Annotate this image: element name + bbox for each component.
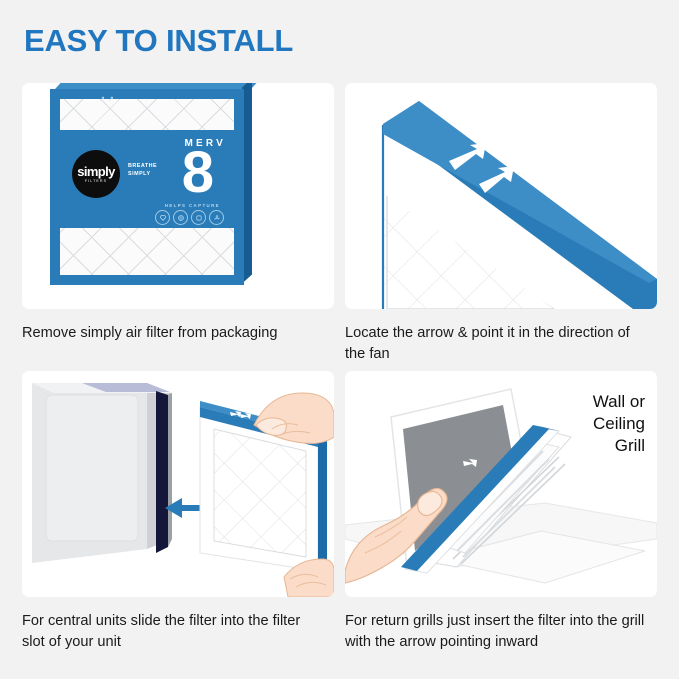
capture-icon-row: [155, 210, 224, 225]
merv-rating-value: 8: [182, 144, 214, 202]
infographic-page: EASY TO INSTALL ↗↗ simply FILTERS: [0, 0, 679, 679]
logo-subtext: FILTERS: [85, 179, 107, 183]
pollen-icon: [173, 210, 188, 225]
step-4: Wall or Ceiling Grill For return grills …: [345, 371, 657, 653]
package-top-arrow-marks: ↗↗: [99, 95, 117, 103]
step-3-image-card: [22, 371, 334, 597]
filter-package-illustration: ↗↗ simply FILTERS BREATHE SIMPLY MERV 8 …: [50, 89, 250, 289]
step-2: Locate the arrow & point it in the direc…: [345, 83, 657, 365]
grill-label-line-1: Wall or: [593, 391, 645, 413]
step-3: For central units slide the filter into …: [22, 371, 334, 653]
ceiling-grill-illustration: Wall or Ceiling Grill: [345, 371, 657, 597]
dust-icon: [155, 210, 170, 225]
step-1-caption: Remove simply air filter from packaging: [22, 323, 322, 344]
simply-filters-logo: simply FILTERS: [72, 150, 120, 198]
step-4-image-card: Wall or Ceiling Grill: [345, 371, 657, 597]
package-front-face: ↗↗ simply FILTERS BREATHE SIMPLY MERV 8 …: [50, 89, 244, 285]
logo-wordmark: simply: [77, 165, 115, 178]
wall-or-ceiling-grill-label: Wall or Ceiling Grill: [593, 391, 645, 457]
step-1: ↗↗ simply FILTERS BREATHE SIMPLY MERV 8 …: [22, 83, 334, 344]
grill-label-line-3: Grill: [593, 435, 645, 457]
package-label: simply FILTERS BREATHE SIMPLY MERV 8 HEL…: [60, 130, 240, 228]
filter-edge-arrow-svg: [345, 83, 657, 309]
step-3-caption: For central units slide the filter into …: [22, 611, 322, 653]
package-tagline: BREATHE SIMPLY: [128, 163, 157, 178]
helps-capture-text: HELPS CAPTURE: [165, 203, 220, 208]
page-title: EASY TO INSTALL: [24, 22, 293, 60]
lint-icon: [191, 210, 206, 225]
tagline-line-2: SIMPLY: [128, 171, 157, 179]
step-2-image-card: [345, 83, 657, 309]
slide-filter-svg: [22, 371, 334, 597]
step-4-caption: For return grills just insert the filter…: [345, 611, 645, 653]
hvac-unit-housing: [32, 383, 172, 563]
mold-icon: [209, 210, 224, 225]
step-1-image-card: ↗↗ simply FILTERS BREATHE SIMPLY MERV 8 …: [22, 83, 334, 309]
slide-into-unit-illustration: [22, 371, 334, 597]
step-2-caption: Locate the arrow & point it in the direc…: [345, 323, 645, 365]
tagline-line-1: BREATHE: [128, 163, 157, 171]
airflow-arrow-illustration: [345, 83, 657, 309]
grill-label-line-2: Ceiling: [593, 413, 645, 435]
